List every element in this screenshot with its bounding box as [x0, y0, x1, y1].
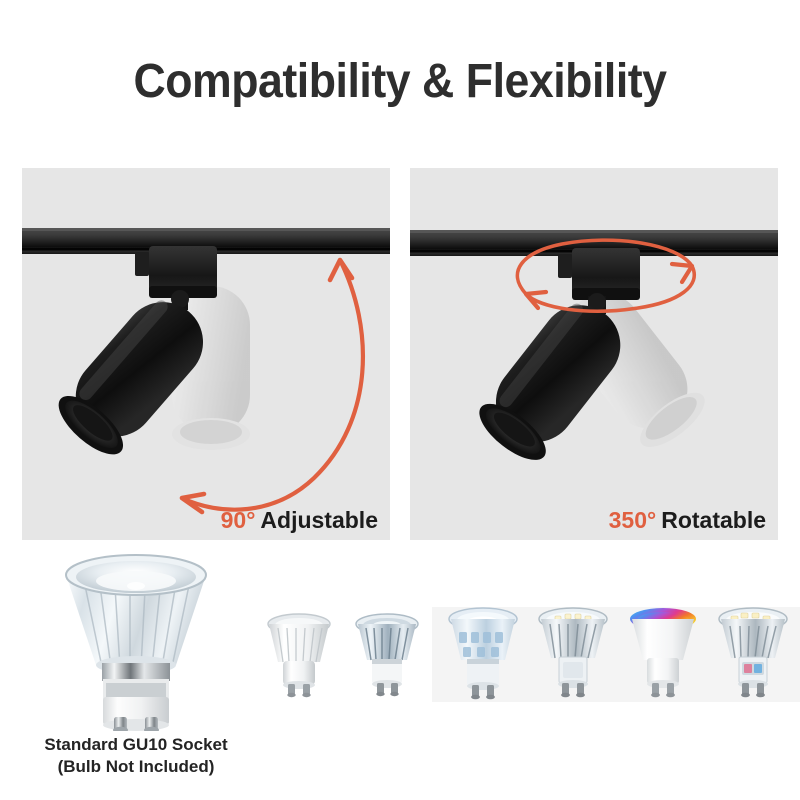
adjustable-degrees: 90° — [221, 507, 256, 533]
compatible-bulb-rgb — [623, 602, 703, 702]
rotatable-caption: 350°Rotatable — [609, 509, 766, 532]
compatible-bulb-smd-ring — [533, 602, 613, 702]
compatible-bulb-smd-chip — [713, 602, 793, 702]
compatible-bulb-glass-fin — [350, 608, 424, 700]
bulb-compatibility-section: Standard GU10 Socket (Bulb Not Included) — [0, 540, 800, 800]
feature-panel-adjustable: 90°Adjustable — [22, 168, 390, 540]
hero-caption-line-2: (Bulb Not Included) — [0, 756, 272, 778]
hero-bulb-caption: Standard GU10 Socket (Bulb Not Included) — [0, 734, 272, 778]
hero-bulb-halogen-gu10 — [48, 545, 224, 731]
compatible-bulb-cob-white — [262, 608, 336, 700]
adjustable-caption: 90°Adjustable — [221, 509, 378, 532]
rotatable-word: Rotatable — [661, 507, 766, 533]
adjustable-word: Adjustable — [260, 507, 378, 533]
adjustable-illustration — [22, 168, 390, 540]
feature-panel-rotatable: 350°Rotatable — [410, 168, 778, 540]
rotatable-degrees: 350° — [609, 507, 657, 533]
compatible-bulb-glass-blue — [443, 602, 523, 702]
page-title: Compatibility & Flexibility — [28, 54, 772, 109]
hero-caption-line-1: Standard GU10 Socket — [0, 734, 272, 756]
rotatable-illustration — [410, 168, 778, 540]
